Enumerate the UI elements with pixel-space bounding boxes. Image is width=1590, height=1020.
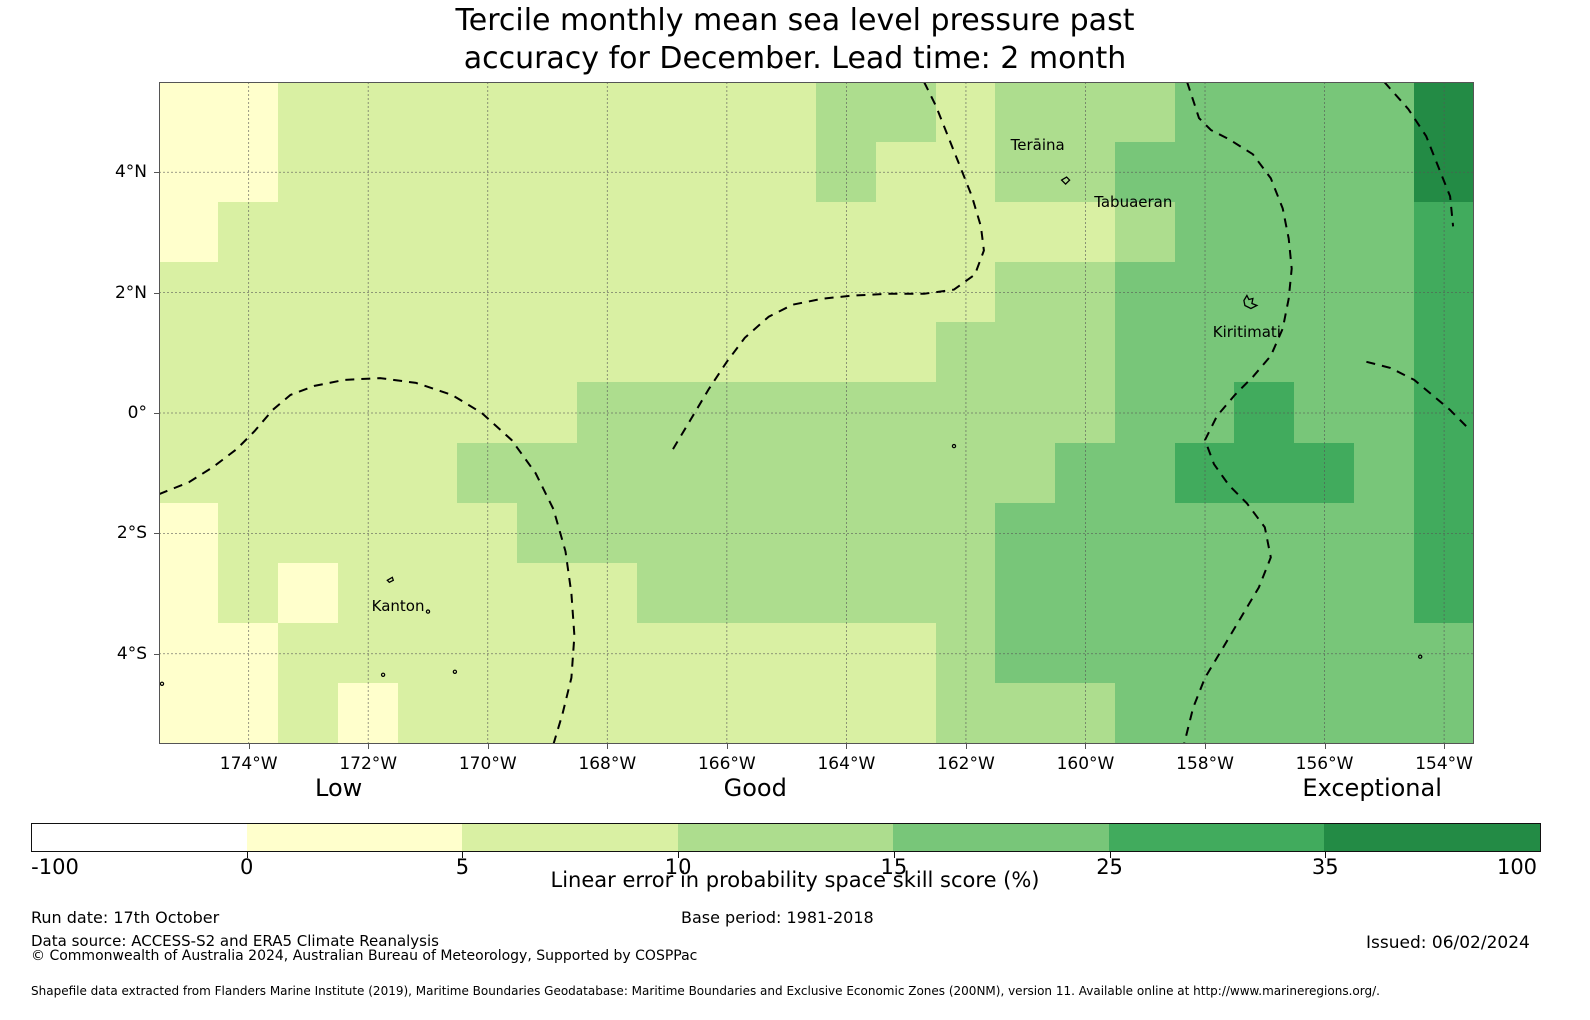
x-axis-tick-mark — [488, 744, 489, 749]
heatmap-cell — [338, 202, 399, 263]
heatmap-cell — [1175, 382, 1236, 443]
heatmap-cell — [637, 503, 698, 564]
x-axis-tick-label: 156°W — [1296, 754, 1354, 774]
heatmap-cell — [1055, 262, 1116, 323]
heatmap-cell — [1175, 503, 1236, 564]
heatmap-cell — [159, 262, 219, 323]
heatmap-cell — [1175, 202, 1236, 263]
heatmap-cell — [398, 262, 459, 323]
page-title: Tercile monthly mean sea level pressure … — [0, 2, 1590, 78]
heatmap-cell — [1055, 503, 1116, 564]
heatmap-cell — [1414, 683, 1474, 744]
heatmap-cell — [1354, 202, 1415, 263]
colorbar[interactable] — [31, 823, 1541, 852]
heatmap-cell — [1175, 262, 1236, 323]
heatmap-cell — [696, 142, 757, 203]
heatmap-cell — [278, 262, 339, 323]
heatmap-cell — [159, 382, 219, 443]
heatmap-cell — [696, 503, 757, 564]
heatmap-cell — [218, 443, 279, 504]
heatmap-cell — [457, 443, 518, 504]
heatmap-cell — [1115, 262, 1176, 323]
heatmap-cell — [1294, 142, 1355, 203]
heatmap-cell — [637, 563, 698, 624]
heatmap-cell — [1055, 623, 1116, 684]
heatmap-cell — [696, 202, 757, 263]
heatmap-cell — [756, 322, 817, 383]
heatmap-cell — [1115, 322, 1176, 383]
heatmap-cell — [159, 443, 219, 504]
heatmap-cell — [696, 82, 757, 143]
heatmap-cell — [876, 623, 937, 684]
heatmap-cell — [816, 82, 877, 143]
heatmap-cell — [936, 683, 997, 744]
heatmap-cell — [1414, 443, 1474, 504]
heatmap-cell — [218, 683, 279, 744]
heatmap-cell — [995, 322, 1056, 383]
heatmap-cell — [876, 262, 937, 323]
heatmap-cell — [278, 202, 339, 263]
x-axis-tick-label: 174°W — [220, 754, 278, 774]
heatmap-cell — [338, 322, 399, 383]
heatmap-cell — [278, 563, 339, 624]
heatmap-cell — [1234, 382, 1295, 443]
heatmap-cell — [577, 683, 638, 744]
heatmap-cell — [1234, 82, 1295, 143]
heatmap-cell — [1354, 322, 1415, 383]
x-axis-tick-label: 170°W — [459, 754, 517, 774]
heatmap-cell — [756, 443, 817, 504]
heatmap-cell — [278, 683, 339, 744]
footer-copyright: © Commonwealth of Australia 2024, Austra… — [31, 948, 697, 964]
heatmap-cell — [1055, 382, 1116, 443]
heatmap-cell — [1414, 382, 1474, 443]
heatmap-cell — [159, 623, 219, 684]
heatmap-cell — [637, 623, 698, 684]
heatmap-cell — [218, 202, 279, 263]
heatmap-cell — [1414, 82, 1474, 143]
heatmap-cell — [1414, 202, 1474, 263]
x-axis-tick-label: 160°W — [1057, 754, 1115, 774]
island-label: Tabuaeran — [1094, 193, 1172, 211]
heatmap-cell — [1115, 623, 1176, 684]
heatmap-cell — [1294, 503, 1355, 564]
heatmap-cell — [278, 382, 339, 443]
heatmap-cell — [637, 82, 698, 143]
heatmap-cell — [876, 382, 937, 443]
heatmap-cell — [637, 443, 698, 504]
heatmap-cell — [936, 382, 997, 443]
heatmap-cell — [936, 503, 997, 564]
heatmap-cell — [517, 623, 578, 684]
heatmap-cell — [338, 443, 399, 504]
heatmap-cell — [577, 202, 638, 263]
quality-label: Low — [315, 774, 362, 802]
heatmap-cell — [159, 563, 219, 624]
colorbar-tick-mark — [678, 852, 679, 858]
heatmap-cell — [1294, 683, 1355, 744]
heatmap-cell — [1234, 683, 1295, 744]
colorbar-segment — [1324, 824, 1540, 851]
heatmap-cell — [1175, 683, 1236, 744]
heatmap-cell — [936, 82, 997, 143]
heatmap-cell — [995, 563, 1056, 624]
heatmap-cell — [1414, 503, 1474, 564]
island-label: Terāina — [1011, 136, 1065, 154]
heatmap-cell — [756, 563, 817, 624]
x-axis-tick-label: 158°W — [1176, 754, 1234, 774]
heatmap-cell — [1175, 443, 1236, 504]
heatmap-cell — [696, 322, 757, 383]
heatmap-cell — [696, 623, 757, 684]
heatmap-cell — [1294, 322, 1355, 383]
heatmap-cell — [876, 563, 937, 624]
colorbar-segment — [1109, 824, 1325, 851]
heatmap-cell — [936, 202, 997, 263]
heatmap-cell — [1294, 82, 1355, 143]
heatmap-cell — [398, 322, 459, 383]
x-axis-tick-mark — [368, 744, 369, 749]
heatmap-cell — [816, 202, 877, 263]
heatmap-cell — [936, 443, 997, 504]
heatmap-cell — [577, 322, 638, 383]
colorbar-segment — [247, 824, 463, 851]
heatmap-cell — [1294, 382, 1355, 443]
heatmap-cell — [995, 382, 1056, 443]
heatmap-cell — [1354, 563, 1415, 624]
heatmap-cell — [936, 262, 997, 323]
heatmap-cell — [1234, 563, 1295, 624]
colorbar-tick-mark — [462, 852, 463, 858]
heatmap-cell — [696, 262, 757, 323]
heatmap-cell — [338, 382, 399, 443]
heatmap-cell — [398, 82, 459, 143]
heatmap-cell — [577, 503, 638, 564]
heatmap-cell — [457, 563, 518, 624]
heatmap-cell — [816, 443, 877, 504]
heatmap-cell — [1175, 82, 1236, 143]
heatmap-cell — [1354, 262, 1415, 323]
heatmap-cell — [1414, 623, 1474, 684]
heatmap-cell — [517, 142, 578, 203]
heatmap-cell — [637, 322, 698, 383]
heatmap-cell — [756, 82, 817, 143]
heatmap-cell — [278, 503, 339, 564]
heatmap-cell — [637, 683, 698, 744]
heatmap-cell — [816, 503, 877, 564]
heatmap-cell — [577, 563, 638, 624]
heatmap-cell — [816, 623, 877, 684]
heatmap-cell — [1354, 503, 1415, 564]
heatmap-cell — [457, 503, 518, 564]
heatmap-cell — [1055, 563, 1116, 624]
heatmap-cell — [637, 202, 698, 263]
heatmap-cell — [218, 382, 279, 443]
y-axis-tick-mark — [154, 172, 159, 173]
heatmap-cell — [1354, 82, 1415, 143]
heatmap-cell — [159, 503, 219, 564]
heatmap-cell — [1115, 382, 1176, 443]
x-axis-tick-mark — [1205, 744, 1206, 749]
heatmap-cell — [936, 142, 997, 203]
heatmap-cell — [517, 202, 578, 263]
heatmap-cell — [517, 683, 578, 744]
heatmap-cell — [1294, 623, 1355, 684]
heatmap-cell — [1115, 563, 1176, 624]
colorbar-segment — [462, 824, 678, 851]
heatmap-cell — [1175, 563, 1236, 624]
x-axis-tick-mark — [1444, 744, 1445, 749]
heatmap-cell — [517, 503, 578, 564]
heatmap-cell — [218, 142, 279, 203]
heatmap-cell — [1055, 82, 1116, 143]
heatmap-cell — [1354, 623, 1415, 684]
heatmap-cell — [338, 142, 399, 203]
heatmap-cell — [756, 202, 817, 263]
heatmap-cell — [1115, 683, 1176, 744]
heatmap-cell — [1294, 202, 1355, 263]
island-label: Kiritimati — [1213, 323, 1281, 341]
heatmap-cell — [577, 82, 638, 143]
heatmap-cell — [218, 322, 279, 383]
heatmap-cell — [1055, 322, 1116, 383]
heatmap-cell — [1414, 563, 1474, 624]
heatmap-cell — [398, 563, 459, 624]
heatmap-cell — [398, 382, 459, 443]
heatmap-cell — [1234, 262, 1295, 323]
heatmap-cell — [637, 382, 698, 443]
x-axis-tick-label: 162°W — [937, 754, 995, 774]
x-axis-tick-mark — [249, 744, 250, 749]
heatmap-cell — [1234, 142, 1295, 203]
heatmap-cell — [637, 142, 698, 203]
heatmap-cell — [995, 262, 1056, 323]
colorbar-axis-title: Linear error in probability space skill … — [0, 868, 1590, 892]
heatmap-cell — [457, 382, 518, 443]
x-axis-tick-label: 168°W — [578, 754, 636, 774]
heatmap-cell — [876, 82, 937, 143]
heatmap-cell — [1175, 142, 1236, 203]
heatmap-cells — [159, 82, 1474, 744]
heatmap-cell — [696, 443, 757, 504]
heatmap-cell — [1294, 443, 1355, 504]
island-label: Kanton — [372, 597, 425, 615]
heatmap-cell — [756, 683, 817, 744]
heatmap-cell — [457, 262, 518, 323]
heatmap-cell — [1234, 202, 1295, 263]
heatmap-cell — [756, 623, 817, 684]
heatmap-cell — [457, 202, 518, 263]
heatmap-cell — [398, 623, 459, 684]
heatmap-cell — [995, 503, 1056, 564]
heatmap-cell — [756, 503, 817, 564]
heatmap-cell — [696, 382, 757, 443]
heatmap-cell — [876, 202, 937, 263]
y-axis-tick-label: 4°S — [91, 644, 147, 664]
y-axis-tick-mark — [154, 293, 159, 294]
heatmap-cell — [1354, 382, 1415, 443]
heatmap-cell — [1115, 82, 1176, 143]
x-axis-tick-label: 172°W — [339, 754, 397, 774]
heatmap-cell — [278, 443, 339, 504]
heatmap-cell — [398, 503, 459, 564]
heatmap-cell — [218, 563, 279, 624]
heatmap-cell — [159, 82, 219, 143]
colorbar-segment — [678, 824, 894, 851]
heatmap-cell — [577, 262, 638, 323]
heatmap-cell — [1414, 322, 1474, 383]
heatmap-cell — [816, 683, 877, 744]
heatmap-cell — [637, 262, 698, 323]
heatmap-cell — [1294, 262, 1355, 323]
y-axis-tick-label: 0° — [91, 403, 147, 423]
footer-base-period: Base period: 1981-2018 — [681, 908, 874, 927]
heatmap-cell — [816, 563, 877, 624]
heatmap-cell — [457, 683, 518, 744]
heatmap-cell — [517, 382, 578, 443]
x-axis-tick-label: 164°W — [817, 754, 875, 774]
y-axis-tick-label: 2°N — [91, 283, 147, 303]
heatmap-cell — [995, 202, 1056, 263]
heatmap-cell — [517, 82, 578, 143]
heatmap-cell — [756, 382, 817, 443]
heatmap-cell — [577, 382, 638, 443]
x-axis-tick-mark — [966, 744, 967, 749]
colorbar-tick-mark — [1325, 852, 1326, 858]
heatmap-cell — [1115, 443, 1176, 504]
heatmap-cell — [517, 262, 578, 323]
heatmap-cell — [517, 322, 578, 383]
heatmap-cell — [816, 142, 877, 203]
heatmap-cell — [756, 142, 817, 203]
heatmap-cell — [1055, 443, 1116, 504]
heatmap-cell — [876, 683, 937, 744]
heatmap-cell — [696, 683, 757, 744]
heatmap-cell — [398, 683, 459, 744]
heatmap-cell — [338, 563, 399, 624]
heatmap-cell — [1354, 683, 1415, 744]
quality-label: Good — [724, 774, 787, 802]
heatmap-cell — [936, 322, 997, 383]
colorbar-tick-mark — [247, 852, 248, 858]
heatmap-cell — [577, 623, 638, 684]
heatmap-cell — [338, 82, 399, 143]
heatmap-cell — [876, 443, 937, 504]
heatmap-cell — [1055, 683, 1116, 744]
heatmap-cell — [457, 322, 518, 383]
colorbar-gradient — [31, 823, 1541, 852]
heatmap-cell — [218, 503, 279, 564]
heatmap-cell — [338, 262, 399, 323]
heatmap-cell — [1234, 503, 1295, 564]
heatmap-cell — [398, 443, 459, 504]
heatmap-cell — [457, 623, 518, 684]
heatmap-cell — [398, 142, 459, 203]
x-axis-tick-mark — [1085, 744, 1086, 749]
heatmap-cell — [876, 142, 937, 203]
heatmap-cell — [577, 142, 638, 203]
heatmap-cell — [816, 262, 877, 323]
heatmap-cell — [218, 82, 279, 143]
y-axis-tick-label: 2°S — [91, 523, 147, 543]
heatmap-cell — [936, 563, 997, 624]
heatmap-cell — [517, 563, 578, 624]
heatmap-cell — [995, 82, 1056, 143]
colorbar-tick-mark — [894, 852, 895, 858]
heatmap-cell — [936, 623, 997, 684]
x-axis-tick-mark — [727, 744, 728, 749]
heatmap-cell — [218, 262, 279, 323]
y-axis-tick-label: 4°N — [91, 162, 147, 182]
heatmap-cell — [278, 623, 339, 684]
map-plot-area[interactable] — [159, 82, 1474, 744]
heatmap-cell — [457, 82, 518, 143]
heatmap-cell — [338, 503, 399, 564]
x-axis-tick-mark — [846, 744, 847, 749]
y-axis-tick-mark — [154, 654, 159, 655]
heatmap-cell — [159, 322, 219, 383]
heatmap-cell — [517, 443, 578, 504]
heatmap-cell — [1115, 503, 1176, 564]
heatmap-cell — [995, 443, 1056, 504]
heatmap-cell — [816, 382, 877, 443]
y-axis-tick-mark — [154, 413, 159, 414]
quality-label: Exceptional — [1302, 774, 1442, 802]
colorbar-segment — [32, 824, 247, 851]
heatmap-cell — [1234, 443, 1295, 504]
heatmap-cell — [577, 443, 638, 504]
heatmap-cell — [218, 623, 279, 684]
colorbar-tick-mark — [1110, 852, 1111, 858]
heatmap-cell — [876, 503, 937, 564]
y-axis-tick-mark — [154, 533, 159, 534]
heatmap-cell — [278, 82, 339, 143]
heatmap-cell — [1354, 142, 1415, 203]
heatmap-cell — [159, 142, 219, 203]
heatmap-cell — [1414, 142, 1474, 203]
footer-run-date: Run date: 17th October — [31, 908, 219, 927]
heatmap-cell — [1354, 443, 1415, 504]
x-axis-tick-mark — [1325, 744, 1326, 749]
heatmap-cell — [995, 683, 1056, 744]
heatmap-cell — [278, 322, 339, 383]
heatmap-cell — [159, 202, 219, 263]
heatmap-cell — [696, 563, 757, 624]
heatmap-cell — [1294, 563, 1355, 624]
heatmap-cell — [278, 142, 339, 203]
x-axis-tick-label: 166°W — [698, 754, 756, 774]
heatmap-cell — [1234, 623, 1295, 684]
x-axis-tick-label: 154°W — [1415, 754, 1473, 774]
heatmap-cell — [457, 142, 518, 203]
colorbar-segment — [893, 824, 1109, 851]
heatmap-cell — [338, 623, 399, 684]
heatmap-cell — [1414, 262, 1474, 323]
heatmap-cell — [756, 262, 817, 323]
heatmap-cell — [1175, 623, 1236, 684]
footer-issued-date: Issued: 06/02/2024 — [1366, 933, 1530, 953]
heatmap-cell — [338, 683, 399, 744]
x-axis-tick-mark — [607, 744, 608, 749]
heatmap-cell — [398, 202, 459, 263]
heatmap-cell — [995, 623, 1056, 684]
heatmap-cell — [816, 322, 877, 383]
footer-shapefile-attribution: Shapefile data extracted from Flanders M… — [31, 984, 1380, 998]
heatmap-cell — [159, 683, 219, 744]
heatmap-cell — [876, 322, 937, 383]
